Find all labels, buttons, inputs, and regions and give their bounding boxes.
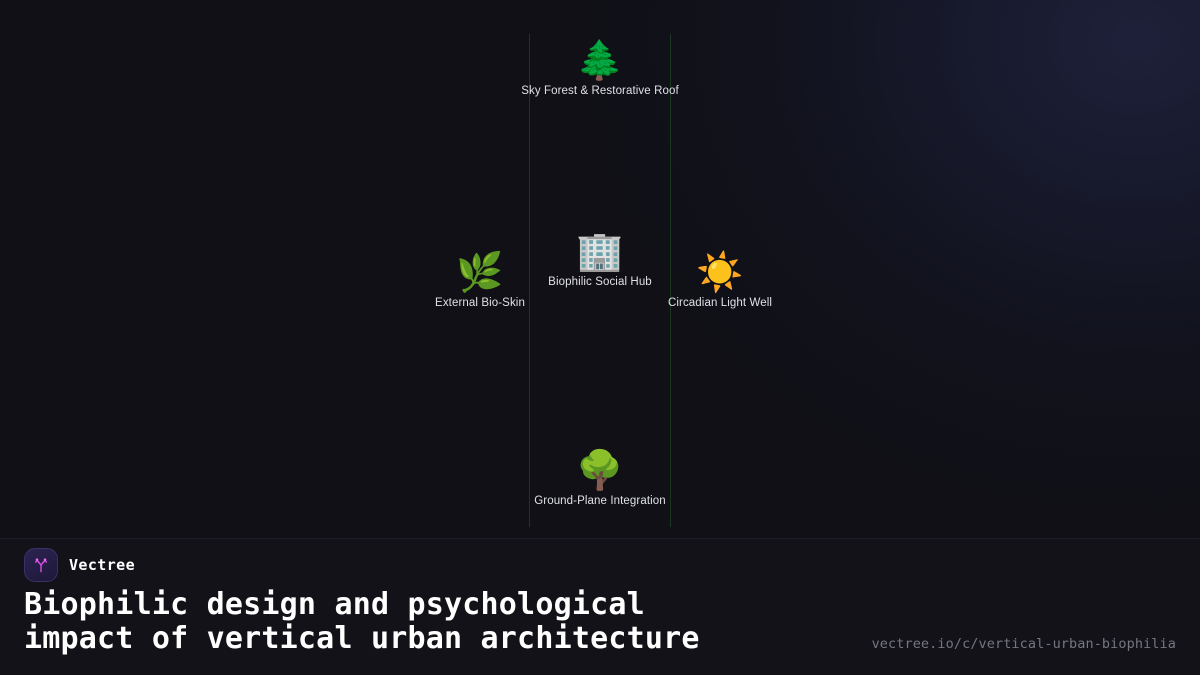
footer-bar: Vectree Biophilic design and psychologic…: [0, 538, 1200, 675]
node-label: Circadian Light Well: [610, 296, 830, 310]
node-label: Sky Forest & Restorative Roof: [490, 84, 710, 98]
node-ground-plane-integration[interactable]: 🌳Ground-Plane Integration: [490, 448, 710, 508]
evergreen-tree-icon: 🌲: [490, 38, 710, 82]
mindmap-canvas[interactable]: 🌲Sky Forest & Restorative Roof🌿External …: [0, 0, 1200, 538]
brand-name: Vectree: [69, 556, 135, 574]
brand-row[interactable]: Vectree: [24, 548, 1176, 582]
node-circadian-light-well[interactable]: ☀️Circadian Light Well: [610, 250, 830, 310]
page-title: Biophilic design and psychological impac…: [24, 588, 700, 656]
node-sky-forest-restorative-roof[interactable]: 🌲Sky Forest & Restorative Roof: [490, 38, 710, 98]
deciduous-tree-icon: 🌳: [490, 448, 710, 492]
title-row: Biophilic design and psychological impac…: [24, 588, 1176, 656]
page-url: vectree.io/c/vertical-urban-biophilia: [872, 636, 1176, 656]
vectree-app: 🌲Sky Forest & Restorative Roof🌿External …: [0, 0, 1200, 675]
node-label: Ground-Plane Integration: [490, 494, 710, 508]
sun-icon: ☀️: [610, 250, 830, 294]
node-label: External Bio-Skin: [370, 296, 590, 310]
vectree-v-tree-logo-icon: [24, 548, 58, 582]
